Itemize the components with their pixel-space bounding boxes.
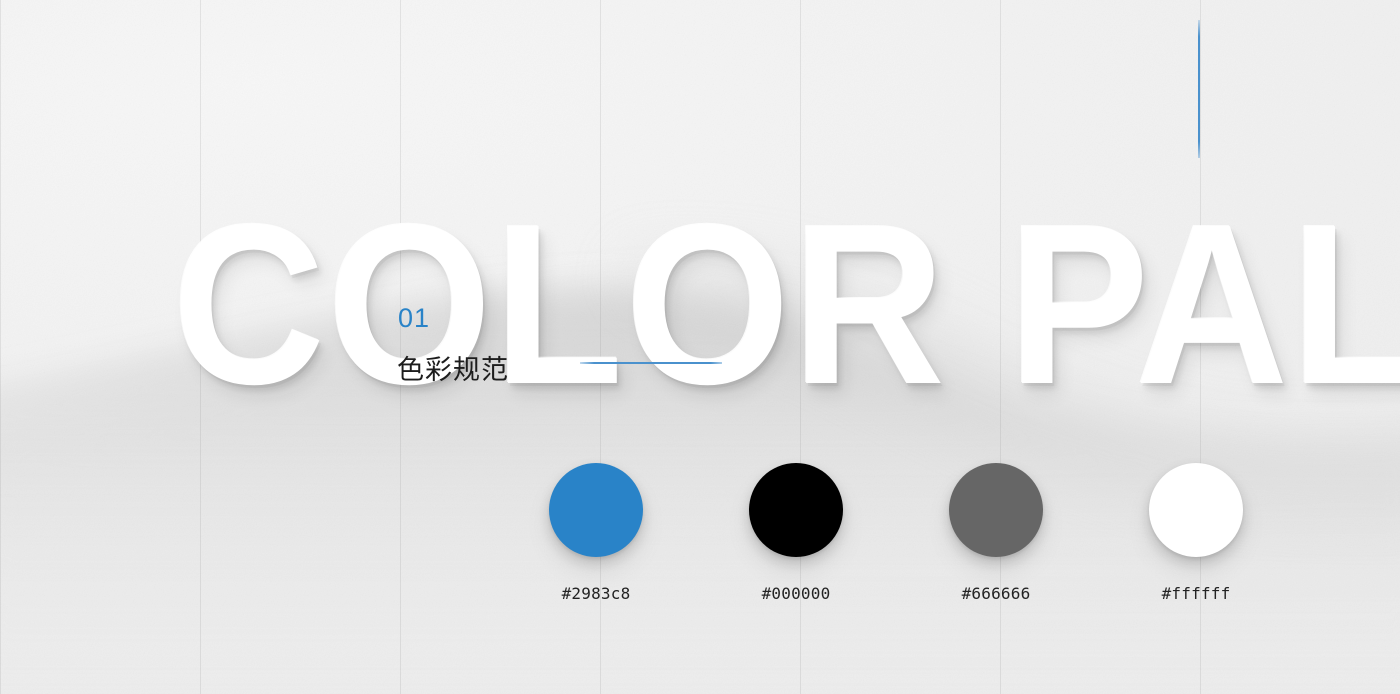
color-swatch-white[interactable]: #ffffff bbox=[1149, 463, 1243, 603]
swatch-hex-label: #2983c8 bbox=[562, 584, 631, 603]
swatch-circle bbox=[549, 463, 643, 557]
swatch-hex-label: #ffffff bbox=[1162, 584, 1231, 603]
section-heading: 色彩规范 bbox=[397, 348, 509, 387]
page-title: COLOR PALETTE bbox=[172, 191, 1400, 419]
swatch-hex-label: #000000 bbox=[762, 584, 831, 603]
color-swatch-primary-blue[interactable]: #2983c8 bbox=[549, 463, 643, 603]
swatch-circle bbox=[949, 463, 1043, 557]
color-swatch-mid-grey[interactable]: #666666 bbox=[949, 463, 1043, 603]
color-swatch-row: #2983c8 #000000 #666666 #ffffff bbox=[549, 463, 1243, 603]
section-number: 01 bbox=[398, 303, 430, 334]
accent-vertical-rule bbox=[1198, 20, 1200, 158]
swatch-hex-label: #666666 bbox=[962, 584, 1031, 603]
section-underline-rule bbox=[580, 362, 722, 364]
swatch-circle bbox=[749, 463, 843, 557]
swatch-circle bbox=[1149, 463, 1243, 557]
color-swatch-black[interactable]: #000000 bbox=[749, 463, 843, 603]
slide-canvas: COLOR PALETTE 01 色彩规范 #2983c8 #000000 #6… bbox=[0, 0, 1400, 694]
